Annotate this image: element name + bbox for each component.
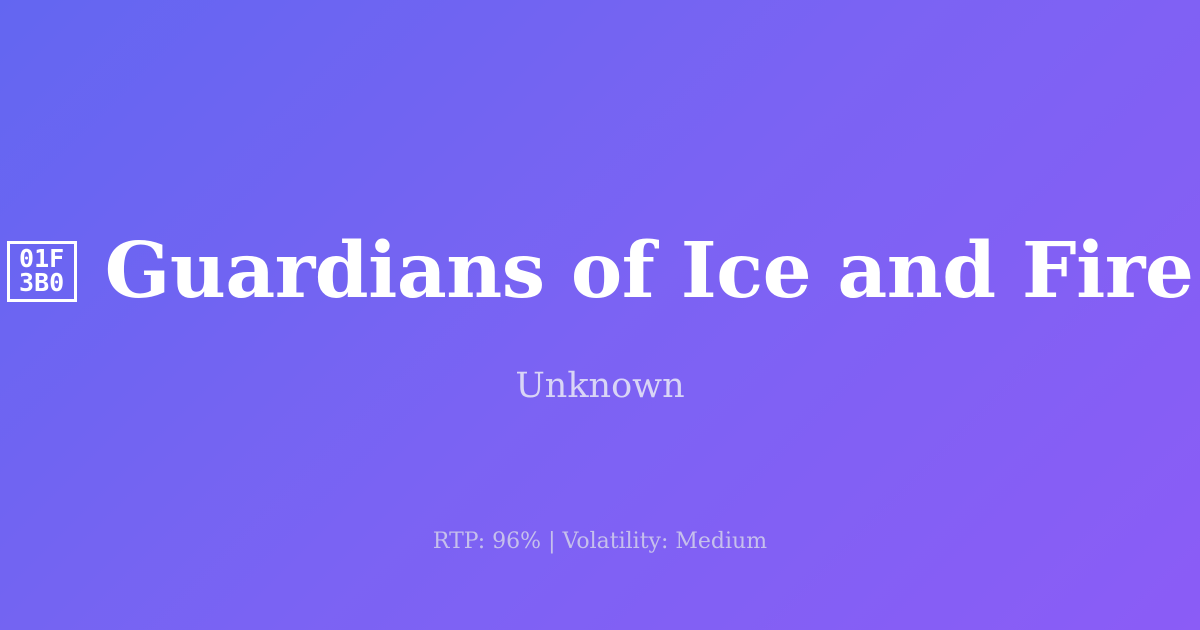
- page-subtitle: Unknown: [0, 365, 1200, 407]
- slot-machine-tofu-icon: 01F 3B0: [7, 241, 77, 302]
- game-meta-footer: RTP: 96% | Volatility: Medium: [0, 528, 1200, 556]
- page-title: Guardians of Ice and Fire: [105, 231, 1194, 312]
- tofu-codepoint-bottom: 3B0: [19, 271, 64, 296]
- title-row: 01F 3B0 Guardians of Ice and Fire: [0, 231, 1200, 312]
- og-share-card: 01F 3B0 Guardians of Ice and Fire Unknow…: [0, 0, 1200, 630]
